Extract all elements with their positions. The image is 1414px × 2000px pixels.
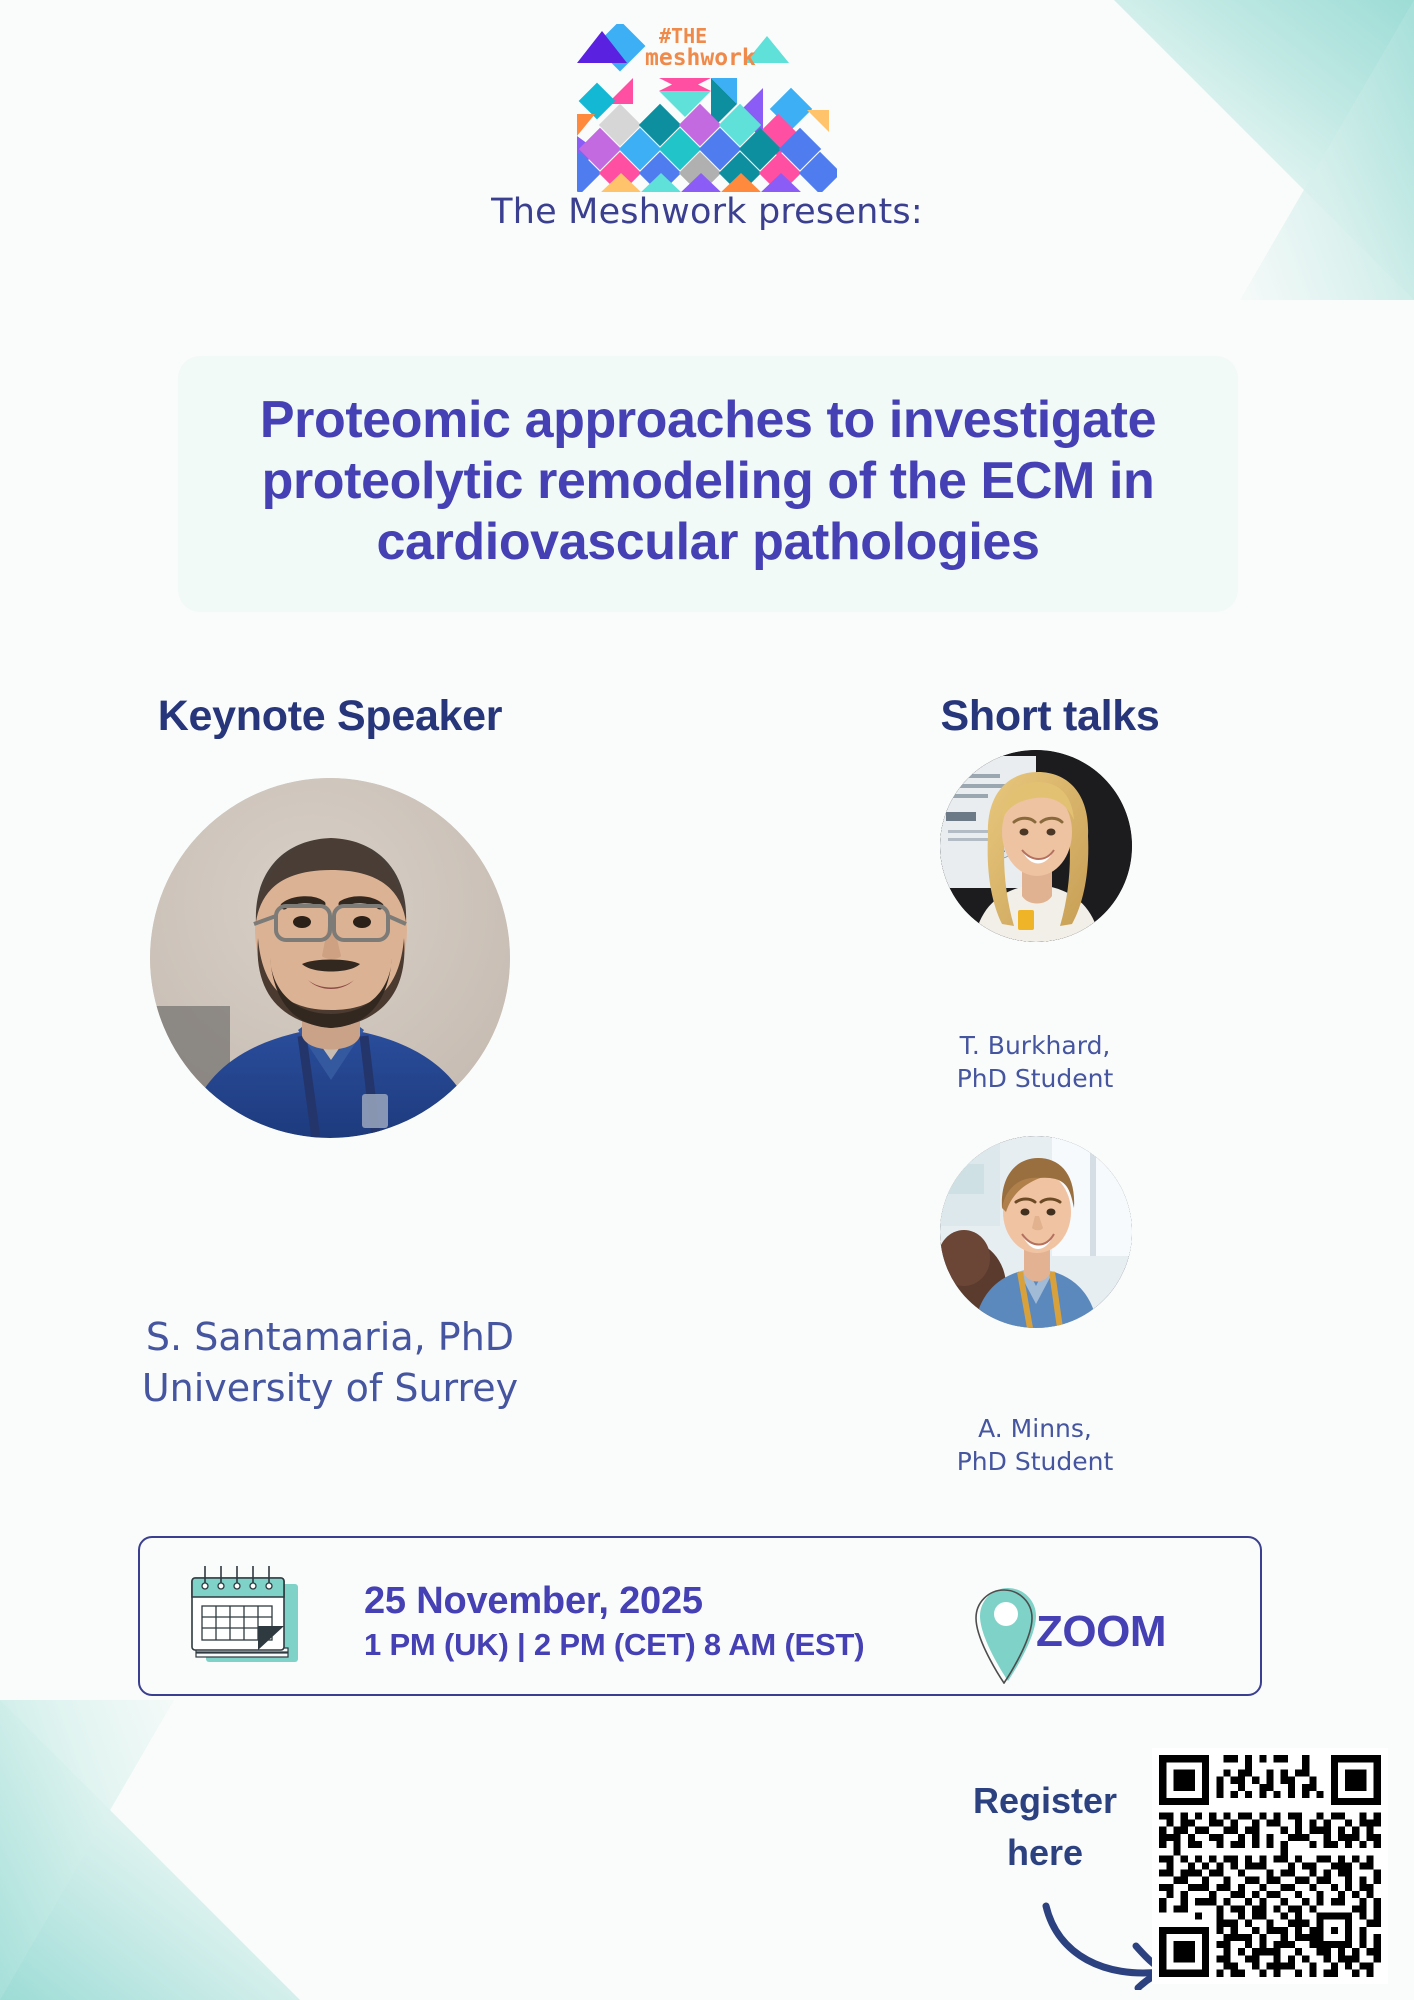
register-label-line1: Register bbox=[930, 1775, 1160, 1827]
meshwork-logo: #THE meshwork bbox=[0, 16, 1414, 206]
logo-hashtag: #THE bbox=[659, 26, 756, 46]
event-time: 1 PM (UK) | 2 PM (CET) 8 AM (EST) bbox=[364, 1627, 864, 1663]
event-date: 25 November, 2025 bbox=[364, 1580, 864, 1623]
short-talk-speaker-role-2: PhD Student bbox=[870, 1446, 1200, 1479]
presents-line: The Meshwork presents: bbox=[0, 192, 1414, 232]
short-talk-speaker-photo-2 bbox=[940, 1136, 1132, 1328]
short-talk-speaker-caption-1: T. Burkhard, PhD Student bbox=[870, 1030, 1200, 1095]
short-talks-heading: Short talks bbox=[890, 692, 1210, 741]
register-label: Register here bbox=[930, 1775, 1160, 1879]
calendar-icon bbox=[188, 1564, 304, 1670]
short-talk-speaker-role-1: PhD Student bbox=[870, 1063, 1200, 1096]
short-talk-speaker-name-2: A. Minns, bbox=[870, 1413, 1200, 1446]
keynote-speaker-caption: S. Santamaria, PhD University of Surrey bbox=[60, 1312, 600, 1415]
corner-decoration-bottom-left-accent bbox=[0, 1700, 300, 2000]
title-panel: Proteomic approaches to investigate prot… bbox=[178, 356, 1238, 612]
location-pin-icon bbox=[972, 1580, 1044, 1684]
register-label-line2: here bbox=[930, 1827, 1160, 1879]
corner-decoration-bottom-left bbox=[0, 1700, 300, 2000]
keynote-heading: Keynote Speaker bbox=[130, 692, 530, 741]
keynote-speaker-name: S. Santamaria, PhD bbox=[60, 1312, 600, 1363]
qr-code[interactable] bbox=[1152, 1748, 1388, 1984]
logo-name: meshwork bbox=[645, 47, 756, 70]
page-title: Proteomic approaches to investigate prot… bbox=[208, 390, 1208, 572]
short-talk-speaker-name-1: T. Burkhard, bbox=[870, 1030, 1200, 1063]
logo-wordmark: #THE meshwork bbox=[645, 26, 756, 70]
event-location: ZOOM bbox=[1036, 1607, 1166, 1657]
short-talk-speaker-caption-2: A. Minns, PhD Student bbox=[870, 1413, 1200, 1478]
poster-canvas: #THE meshwork The Meshwork presents: Pro… bbox=[0, 0, 1414, 2000]
event-datetime: 25 November, 2025 1 PM (UK) | 2 PM (CET)… bbox=[364, 1580, 864, 1663]
keynote-speaker-photo bbox=[150, 778, 510, 1138]
short-talk-speaker-photo-1: A bbox=[940, 750, 1132, 942]
keynote-speaker-affiliation: University of Surrey bbox=[60, 1363, 600, 1414]
